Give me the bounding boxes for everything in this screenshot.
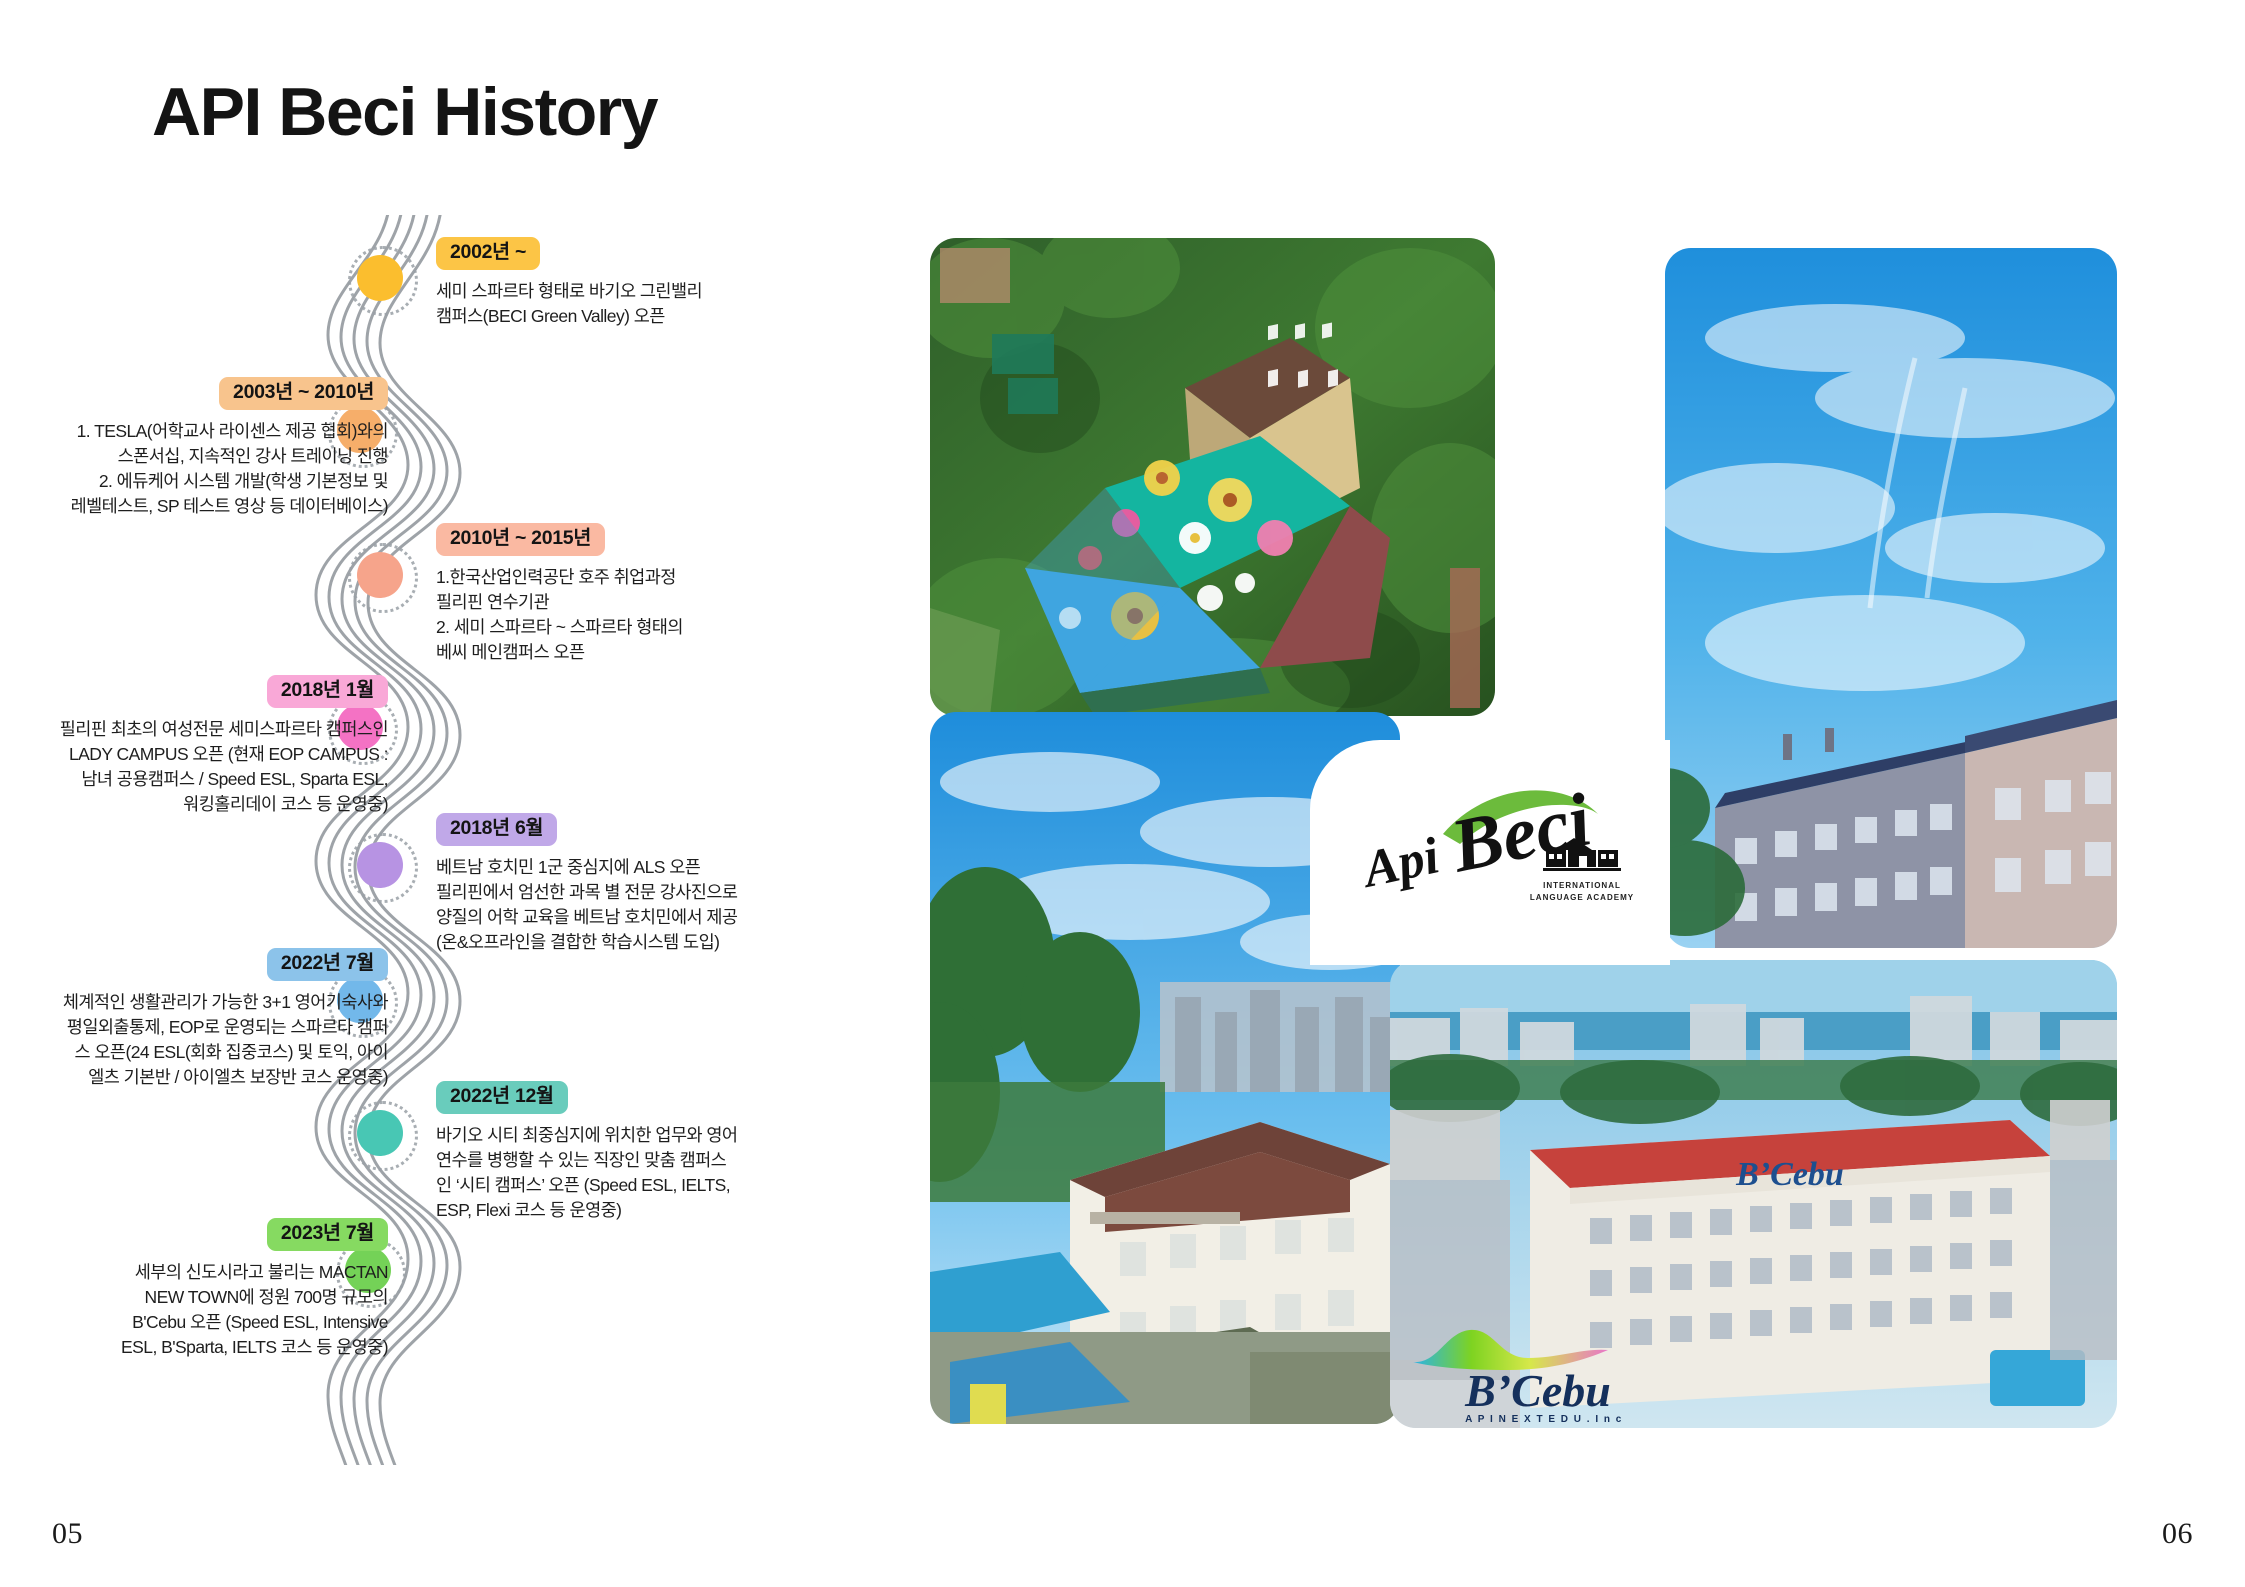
apibeci-sub-line1: INTERNATIONAL (1543, 881, 1621, 890)
photo-beci-green-valley-aerial (930, 238, 1495, 716)
timeline-desc-4: 필리핀 최초의 여성전문 세미스파르타 캠퍼스인 LADY CAMPUS 오픈 … (0, 717, 388, 816)
timeline-entry-2: 2003년 ~ 2010년 1. TESLA(어학교사 라이센스 제공 협회)와… (10, 377, 388, 519)
svg-text:B’Cebu: B’Cebu (1735, 1156, 1844, 1193)
timeline-dot-3 (357, 552, 403, 598)
timeline-entry-3: 2010년 ~ 2015년 1.한국산업인력공단 호주 취업과정 필리핀 연수기… (436, 523, 766, 665)
timeline-badge-8: 2023년 7월 (267, 1218, 388, 1251)
bcebu-sub: A P I N E X T E D U . I n c (1465, 1414, 1623, 1425)
timeline-entry-5: 2018년 6월 베트남 호치민 1군 중심지에 ALS 오픈 필리핀에서 엄선… (436, 813, 766, 955)
timeline-badge-2: 2003년 ~ 2010년 (219, 377, 388, 410)
timeline-entry-1: 2002년 ~ 세미 스파르타 형태로 바기오 그린밸리 캠퍼스(BECI Gr… (436, 237, 766, 329)
bcebu-logo: B’Cebu A P I N E X T E D U . I n c (1408, 1318, 1668, 1430)
timeline-desc-1: 세미 스파르타 형태로 바기오 그린밸리 캠퍼스(BECI Green Vall… (436, 279, 766, 329)
timeline-desc-2: 1. TESLA(어학교사 라이센스 제공 협회)와의 스폰서십, 지속적인 강… (10, 419, 388, 518)
timeline-entry-8: 2023년 7월 세부의 신도시라고 불리는 MACTAN NEW TOWN에 … (30, 1218, 388, 1360)
timeline-dot-7 (357, 1110, 403, 1156)
bcebu-wordmark: B’Cebu (1464, 1365, 1611, 1416)
timeline-badge-4: 2018년 1월 (267, 675, 388, 708)
timeline-badge-5: 2018년 6월 (436, 813, 557, 846)
apibeci-sub-line2: LANGUAGE ACADEMY (1530, 893, 1634, 902)
timeline-badge-7: 2022년 12월 (436, 1081, 568, 1114)
timeline-entry-6: 2022년 7월 체계적인 생활관리가 가능한 3+1 영어기숙사와 평일외출통… (2, 948, 388, 1090)
timeline-desc-8: 세부의 신도시라고 불리는 MACTAN NEW TOWN에 정원 700명 규… (30, 1260, 388, 1359)
photo-beci-main-campus-sky (1665, 248, 2117, 948)
timeline-desc-5: 베트남 호치민 1군 중심지에 ALS 오픈 필리핀에서 엄선한 과목 별 전문… (436, 855, 766, 954)
page-number-right: 06 (2162, 1517, 2193, 1551)
timeline-dot-5 (357, 842, 403, 888)
apibeci-word-api: Api (1356, 827, 1445, 899)
timeline-badge-6: 2022년 7월 (267, 948, 388, 981)
apibeci-logo: Api Beci INTERNATIONAL LANGUAGE ACADEMY (1348, 772, 1648, 932)
timeline-badge-1: 2002년 ~ (436, 237, 540, 270)
page-title: API Beci History (152, 78, 657, 146)
timeline-desc-6: 체계적인 생활관리가 가능한 3+1 영어기숙사와 평일외출통제, EOP로 운… (2, 990, 388, 1089)
page-number-left: 05 (52, 1517, 83, 1551)
timeline: 2002년 ~ 세미 스파르타 형태로 바기오 그린밸리 캠퍼스(BECI Gr… (90, 215, 820, 1465)
timeline-badge-3: 2010년 ~ 2015년 (436, 523, 605, 556)
timeline-entry-4: 2018년 1월 필리핀 최초의 여성전문 세미스파르타 캠퍼스인 LADY C… (0, 675, 388, 817)
timeline-desc-3: 1.한국산업인력공단 호주 취업과정 필리핀 연수기관 2. 세미 스파르타 ~… (436, 565, 766, 664)
timeline-dot-1 (357, 255, 403, 301)
timeline-desc-7: 바기오 시티 최중심지에 위치한 업무와 영어 연수를 병행할 수 있는 직장인… (436, 1123, 766, 1222)
apibeci-word-beci: Beci (1443, 778, 1598, 889)
timeline-entry-7: 2022년 12월 바기오 시티 최중심지에 위치한 업무와 영어 연수를 병행… (436, 1081, 766, 1223)
bcebu-wave-icon (1413, 1330, 1608, 1370)
page-root: API Beci History 2002년 ~ 세미 스파르타 형태로 바기오… (0, 0, 2245, 1587)
